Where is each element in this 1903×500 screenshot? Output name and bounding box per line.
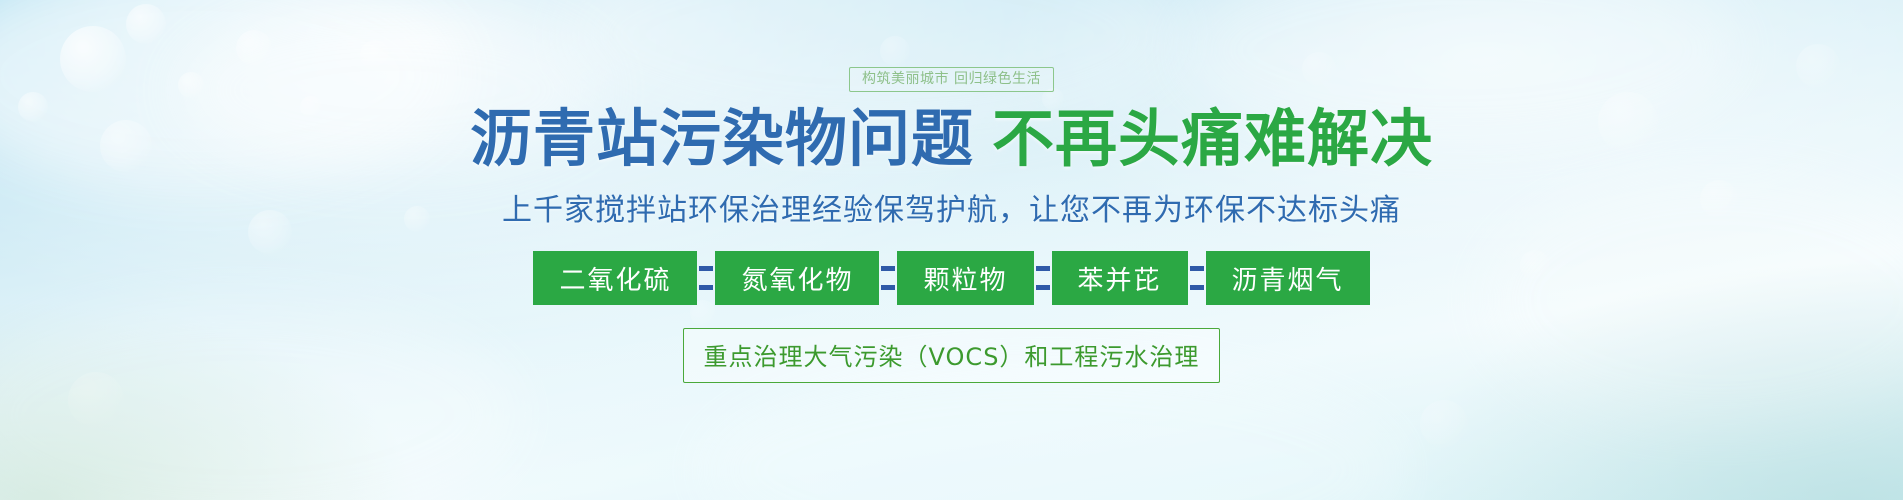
pollutant-tag[interactable]: 二氧化硫	[533, 251, 697, 305]
hero-banner: 构筑美丽城市 回归绿色生活 沥青站污染物问题不再头痛难解决 上千家搅拌站环保治理…	[0, 0, 1903, 500]
pollutant-tag[interactable]: 氮氧化物	[715, 251, 879, 305]
tag-separator	[1034, 251, 1052, 305]
pollutant-tag[interactable]: 苯并芘	[1052, 251, 1188, 305]
headline-part-blue: 沥青站污染物问题	[470, 102, 974, 175]
tag-separator	[1188, 251, 1206, 305]
pollutant-tag[interactable]: 沥青烟气	[1206, 251, 1370, 305]
banner-tagline: 构筑美丽城市 回归绿色生活	[849, 67, 1054, 92]
banner-subtitle: 上千家搅拌站环保治理经验保驾护航，让您不再为环保不达标头痛	[502, 185, 1401, 229]
banner-headline: 沥青站污染物问题不再头痛难解决	[470, 106, 1433, 171]
pollutant-tag[interactable]: 颗粒物	[897, 251, 1033, 305]
service-scope-note: 重点治理大气污染（VOCS）和工程污水治理	[683, 328, 1221, 383]
headline-part-green: 不再头痛难解决	[992, 102, 1433, 175]
pollutant-tag-strip: 二氧化硫 氮氧化物 颗粒物 苯并芘 沥青烟气	[533, 251, 1369, 305]
banner-content: 构筑美丽城市 回归绿色生活 沥青站污染物问题不再头痛难解决 上千家搅拌站环保治理…	[0, 0, 1903, 500]
tag-separator	[697, 251, 715, 305]
tag-separator	[879, 251, 897, 305]
